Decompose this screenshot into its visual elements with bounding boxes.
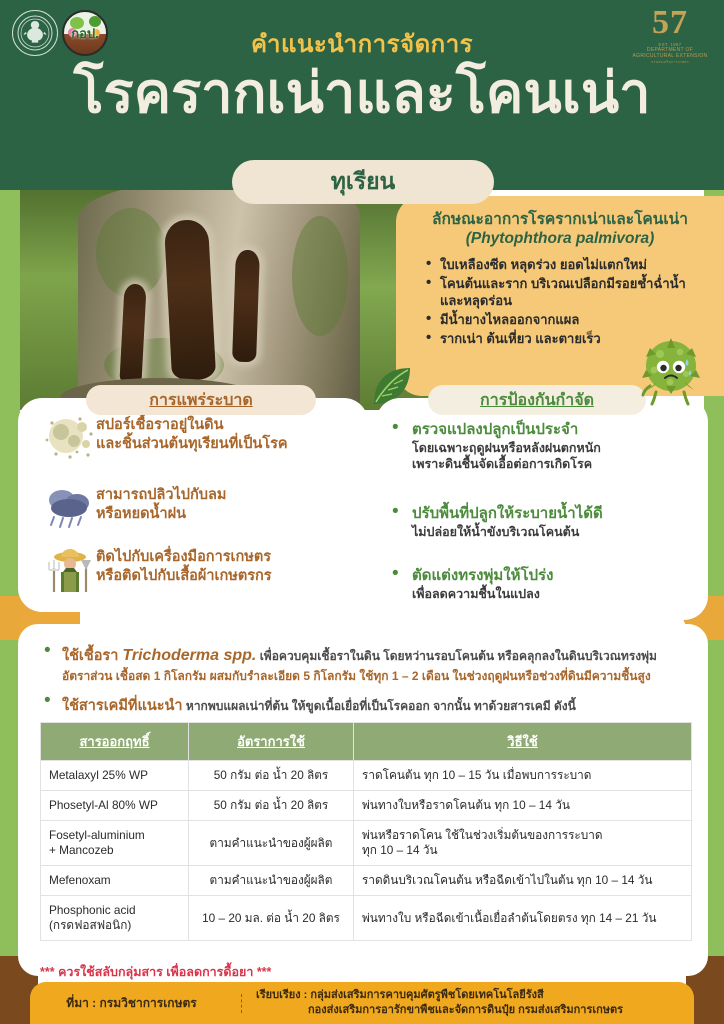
- table-row: Phosphonic acid (กรดฟอสฟอนิก) 10 – 20 มล…: [41, 896, 692, 941]
- spread-line-2: หรือหยดน้ำฝน: [96, 506, 186, 522]
- control-bio-head: ใช้เชื้อรา: [62, 648, 122, 664]
- cell-substance: Metalaxyl 25% WP: [41, 761, 189, 791]
- cell-substance: Phosetyl-Al 80% WP: [41, 791, 189, 821]
- resistance-warning: *** ควรใช้สลับกลุ่มสาร เพื่อลดการดื้อยา …: [40, 962, 271, 982]
- cell-substance: Phosphonic acid (กรดฟอสฟอนิก): [41, 896, 189, 941]
- farmer-tools-icon: [44, 546, 96, 594]
- prevention-item-head: ตัดแต่งทรงพุ่มให้โปร่ง: [412, 566, 690, 586]
- spread-item-spores: สปอร์เชื้อราอยู่ในดิน และชิ้นส่วนต้นทุเร…: [44, 414, 354, 462]
- control-chem-block: ใช้สารเคมีที่แนะนำ หากพบแผลเน่าที่ต้น ให…: [40, 694, 700, 717]
- table-row: Fosetyl-aluminium + Mancozeb ตามคำแนะนำข…: [41, 821, 692, 866]
- prevention-item-inspect: ตรวจแปลงปลูกเป็นประจำ โดยเฉพาะฤดูฝนหรือห…: [390, 420, 690, 472]
- spread-item-label: สามารถปลิวไปกับลม หรือหยดน้ำฝน: [96, 484, 226, 524]
- diseased-trunk-photo: [0, 188, 430, 410]
- symptoms-list: ใบเหลืองซีด หลุดร่วง ยอดไม่แตกใหม่ โคนต้…: [410, 256, 710, 347]
- prevention-item-sub-2: เพราะดินชื้นจัดเอื้อต่อการเกิดโรค: [412, 456, 690, 472]
- spread-item-label: สปอร์เชื้อราอยู่ในดิน และชิ้นส่วนต้นทุเร…: [96, 414, 288, 454]
- spread-line-2: และชิ้นส่วนต้นทุเรียนที่เป็นโรค: [96, 436, 288, 452]
- list-item: ใบเหลืองซีด หลุดร่วง ยอดไม่แตกใหม่: [426, 256, 710, 273]
- fungal-spores-icon: [44, 414, 96, 462]
- header-kicker: คำแนะนำการจัดการ: [0, 24, 724, 63]
- cell-rate: 10 – 20 มล. ต่อ น้ำ 20 ลิตร: [189, 896, 354, 941]
- control-bio-inline: เพื่อควบคุมเชื้อราในดิน โดยหว่านรอบโคนต้…: [256, 649, 657, 663]
- table-row: Phosetyl-Al 80% WP 50 กรัม ต่อ น้ำ 20 ลิ…: [41, 791, 692, 821]
- control-chem-head: ใช้สารเคมีที่แนะนำ: [62, 698, 183, 714]
- table-row: Metalaxyl 25% WP 50 กรัม ต่อ น้ำ 20 ลิตร…: [41, 761, 692, 791]
- prevention-item-drainage: ปรับพื้นที่ปลูกให้ระบายน้ำได้ดี ไม่ปล่อย…: [390, 504, 690, 540]
- cell-method: พ่นหรือราดโคน ใช้ในช่วงเริ่มต้นของการระบ…: [354, 821, 692, 866]
- sad-durian-mascot-icon: [640, 336, 702, 410]
- spread-line-1: สปอร์เชื้อราอยู่ในดิน: [96, 417, 224, 433]
- table-row: Mefenoxam ตามคำแนะนำของผู้ผลิต ราดดินบริ…: [41, 866, 692, 896]
- prevention-section-pill: การป้องกันกำจัด: [428, 385, 646, 415]
- spread-item-wind-rain: สามารถปลิวไปกับลม หรือหยดน้ำฝน: [44, 484, 354, 532]
- footer-source: ที่มา : กรมวิชาการเกษตร: [30, 994, 242, 1013]
- prevention-item-pruning: ตัดแต่งทรงพุ่มให้โปร่ง เพื่อลดความชื้นใน…: [390, 566, 690, 602]
- symptoms-title-text: ลักษณะอาการโรครากเน่าและโคนเน่า: [432, 211, 688, 228]
- cell-rate: ตามคำแนะนำของผู้ผลิต: [189, 866, 354, 896]
- prevention-item-sub-1: ไม่ปล่อยให้น้ำขังบริเวณโคนต้น: [412, 524, 690, 540]
- list-item: โคนต้นและราก บริเวณเปลือกมีรอยช้ำฉ่ำน้ำ …: [426, 275, 710, 309]
- cell-rate: 50 กรัม ต่อ น้ำ 20 ลิตร: [189, 761, 354, 791]
- spread-section-pill: การแพร่ระบาด: [86, 385, 316, 415]
- pathogen-name: (Phytophthora palmivora): [466, 230, 655, 247]
- kop-logo-label: กอป.: [71, 23, 99, 44]
- prevention-item-sub-1: เพื่อลดความชื้นในแปลง: [412, 586, 690, 602]
- table-header-row: สารออกฤทธิ์ อัตราการใช้ วิธีใช้: [41, 723, 692, 761]
- footer-bar: ที่มา : กรมวิชาการเกษตร เรียบเรียง : กลุ…: [30, 982, 694, 1024]
- chemical-table: สารออกฤทธิ์ อัตราการใช้ วิธีใช้ Metalaxy…: [40, 722, 692, 941]
- control-bio-block: ใช้เชื้อรา Trichoderma spp. เพื่อควบคุมเ…: [40, 644, 700, 684]
- crop-name-pill: ทุเรียน: [232, 160, 494, 204]
- footer-credit-line-1: เรียบเรียง : กลุ่มส่งเสริมการคาบคุมศัตรู…: [256, 988, 623, 1003]
- footer-credit-line-2: กองส่งเสริมการอารักขาพืชและจัดการดินปุ๋ย…: [256, 1003, 623, 1018]
- infographic-poster: กอป. 57 EST. 1967 DEPARTMENT OF AGRICULT…: [0, 0, 724, 1024]
- spread-item-label: ติดไปกับเครื่องมือการเกษตร หรือติดไปกับเ…: [96, 546, 272, 586]
- footer-credits: เรียบเรียง : กลุ่มส่งเสริมการคาบคุมศัตรู…: [242, 988, 623, 1018]
- control-bio-line2: อัตราส่วน เชื้อสด 1 กิโลกรัม ผสมกับรำละเ…: [62, 668, 700, 684]
- cell-substance: Fosetyl-aluminium + Mancozeb: [41, 821, 189, 866]
- spread-line-1: ติดไปกับเครื่องมือการเกษตร: [96, 549, 271, 565]
- cell-substance: Mefenoxam: [41, 866, 189, 896]
- cell-rate: 50 กรัม ต่อ น้ำ 20 ลิตร: [189, 791, 354, 821]
- column-header-rate: อัตราการใช้: [189, 723, 354, 761]
- spread-card: สปอร์เชื้อราอยู่ในดิน และชิ้นส่วนต้นทุเร…: [18, 398, 368, 612]
- cell-method: พ่นทางใบหรือราดโคนต้น ทุก 10 – 14 วัน: [354, 791, 692, 821]
- list-item: มีน้ำยางไหลออกจากแผล: [426, 311, 710, 328]
- prevention-item-sub-1: โดยเฉพาะฤดูฝนหรือหลังฝนตกหนัก: [412, 440, 690, 456]
- control-chem-inline: หากพบแผลเน่าที่ต้น ให้ขูดเนื้อเยื่อที่เป…: [183, 699, 576, 713]
- page-title: โรครากเน่าและโคนเน่า: [0, 62, 724, 124]
- column-header-substance: สารออกฤทธิ์: [41, 723, 189, 761]
- symptoms-title: ลักษณะอาการโรครากเน่าและโคนเน่า (Phytoph…: [410, 210, 710, 248]
- prevention-item-head: ตรวจแปลงปลูกเป็นประจำ: [412, 420, 690, 440]
- column-header-method: วิธีใช้: [354, 723, 692, 761]
- cell-method: ราดโคนต้น ทุก 10 – 15 วัน เมื่อพบการระบา…: [354, 761, 692, 791]
- cell-method: ราดดินบริเวณโคนต้น หรือฉีดเข้าไปในต้น ทุ…: [354, 866, 692, 896]
- spread-item-tools: ติดไปกับเครื่องมือการเกษตร หรือติดไปกับเ…: [44, 546, 360, 594]
- cell-method: พ่นทางใบ หรือฉีดเข้าเนื้อเยื่อลำต้นโดยตร…: [354, 896, 692, 941]
- cell-rate: ตามคำแนะนำของผู้ผลิต: [189, 821, 354, 866]
- prevention-item-head: ปรับพื้นที่ปลูกให้ระบายน้ำได้ดี: [412, 504, 690, 524]
- spread-line-2: หรือติดไปกับเสื้อผ้าเกษตรกร: [96, 568, 272, 584]
- prevention-card: ตรวจแปลงปลูกเป็นประจำ โดยเฉพาะฤดูฝนหรือห…: [376, 398, 708, 620]
- control-bio-scientific-name: Trichoderma spp.: [122, 647, 256, 664]
- rain-cloud-icon: [44, 484, 96, 532]
- spread-line-1: สามารถปลิวไปกับลม: [96, 487, 226, 503]
